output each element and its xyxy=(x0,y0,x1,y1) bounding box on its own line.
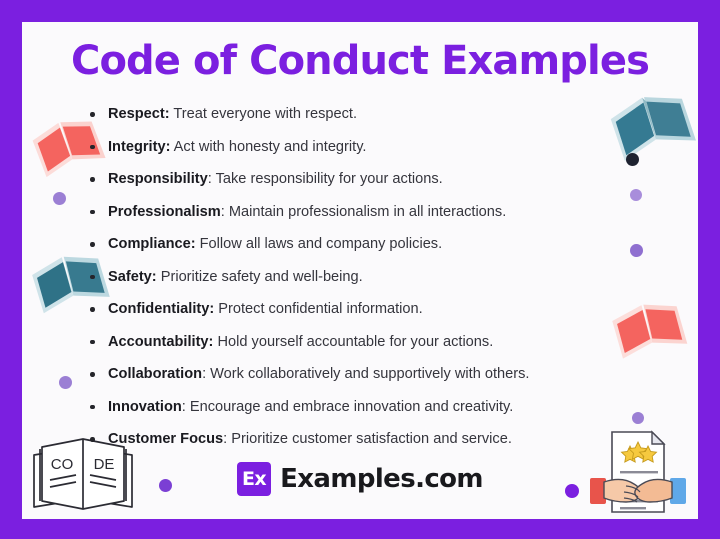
list-item-term: Accountability: xyxy=(108,334,213,350)
bullet-icon xyxy=(90,307,95,312)
code-of-conduct-list: Respect: Treat everyone with respect. In… xyxy=(90,98,650,456)
list-item-term: Safety: xyxy=(108,269,157,285)
list-item: Innovation: Encourage and embrace innova… xyxy=(90,391,650,424)
list-item-desc: Hold yourself accountable for your actio… xyxy=(213,334,493,350)
list-item-term: Innovation xyxy=(108,399,182,415)
list-item-term: Responsibility xyxy=(108,171,208,187)
bullet-icon xyxy=(90,437,95,442)
bullet-icon xyxy=(90,145,95,150)
list-item-desc: Follow all laws and company policies. xyxy=(196,236,443,252)
list-item: Collaboration: Work collaboratively and … xyxy=(90,358,650,391)
bullet-icon xyxy=(90,210,95,215)
list-item-term: Confidentiality: xyxy=(108,301,214,317)
list-item: Safety: Prioritize safety and well-being… xyxy=(90,261,650,294)
list-item-term: Respect: xyxy=(108,106,170,122)
list-item-desc: Treat everyone with respect. xyxy=(170,106,357,122)
list-item-term: Collaboration xyxy=(108,366,202,382)
bullet-icon xyxy=(90,112,95,117)
list-item-desc: : Prioritize customer satisfaction and s… xyxy=(223,431,512,447)
examples-wordmark: Examples.com xyxy=(280,464,483,494)
bullet-icon xyxy=(90,340,95,345)
brand-footer[interactable]: Ex Examples.com xyxy=(22,462,698,496)
list-item: Confidentiality: Protect confidential in… xyxy=(90,293,650,326)
list-item: Compliance: Follow all laws and company … xyxy=(90,228,650,261)
list-item-term: Professionalism xyxy=(108,204,221,220)
examples-logo-mark: Ex xyxy=(237,462,271,496)
bullet-icon xyxy=(90,177,95,182)
bullet-icon xyxy=(90,372,95,377)
list-item-term: Integrity: xyxy=(108,139,170,155)
list-item-desc: Act with honesty and integrity. xyxy=(170,139,366,155)
list-item-desc: : Work collaboratively and supportively … xyxy=(202,366,529,382)
bullet-icon xyxy=(90,405,95,410)
list-item-desc: : Maintain professionalism in all intera… xyxy=(221,204,507,220)
list-item-desc: Protect confidential information. xyxy=(214,301,422,317)
list-item: Responsibility: Take responsibility for … xyxy=(90,163,650,196)
bullet-icon xyxy=(90,275,95,280)
list-item: Accountability: Hold yourself accountabl… xyxy=(90,326,650,359)
list-item-desc: Prioritize safety and well-being. xyxy=(157,269,363,285)
poster-panel: CO DE xyxy=(22,22,698,519)
list-item: Respect: Treat everyone with respect. xyxy=(90,98,650,131)
poster-canvas: CO DE xyxy=(0,0,720,539)
list-item-term: Compliance: xyxy=(108,236,196,252)
page-title: Code of Conduct Examples xyxy=(22,38,698,84)
dot-lilac-left-lower-icon xyxy=(59,376,72,389)
bullet-icon xyxy=(90,242,95,247)
list-item: Professionalism: Maintain professionalis… xyxy=(90,196,650,229)
list-item: Customer Focus: Prioritize customer sati… xyxy=(90,423,650,456)
dot-lilac-left-upper-icon xyxy=(53,192,66,205)
list-item: Integrity: Act with honesty and integrit… xyxy=(90,131,650,164)
list-item-desc: : Take responsibility for your actions. xyxy=(208,171,443,187)
list-item-desc: : Encourage and embrace innovation and c… xyxy=(182,399,514,415)
list-item-term: Customer Focus xyxy=(108,431,223,447)
